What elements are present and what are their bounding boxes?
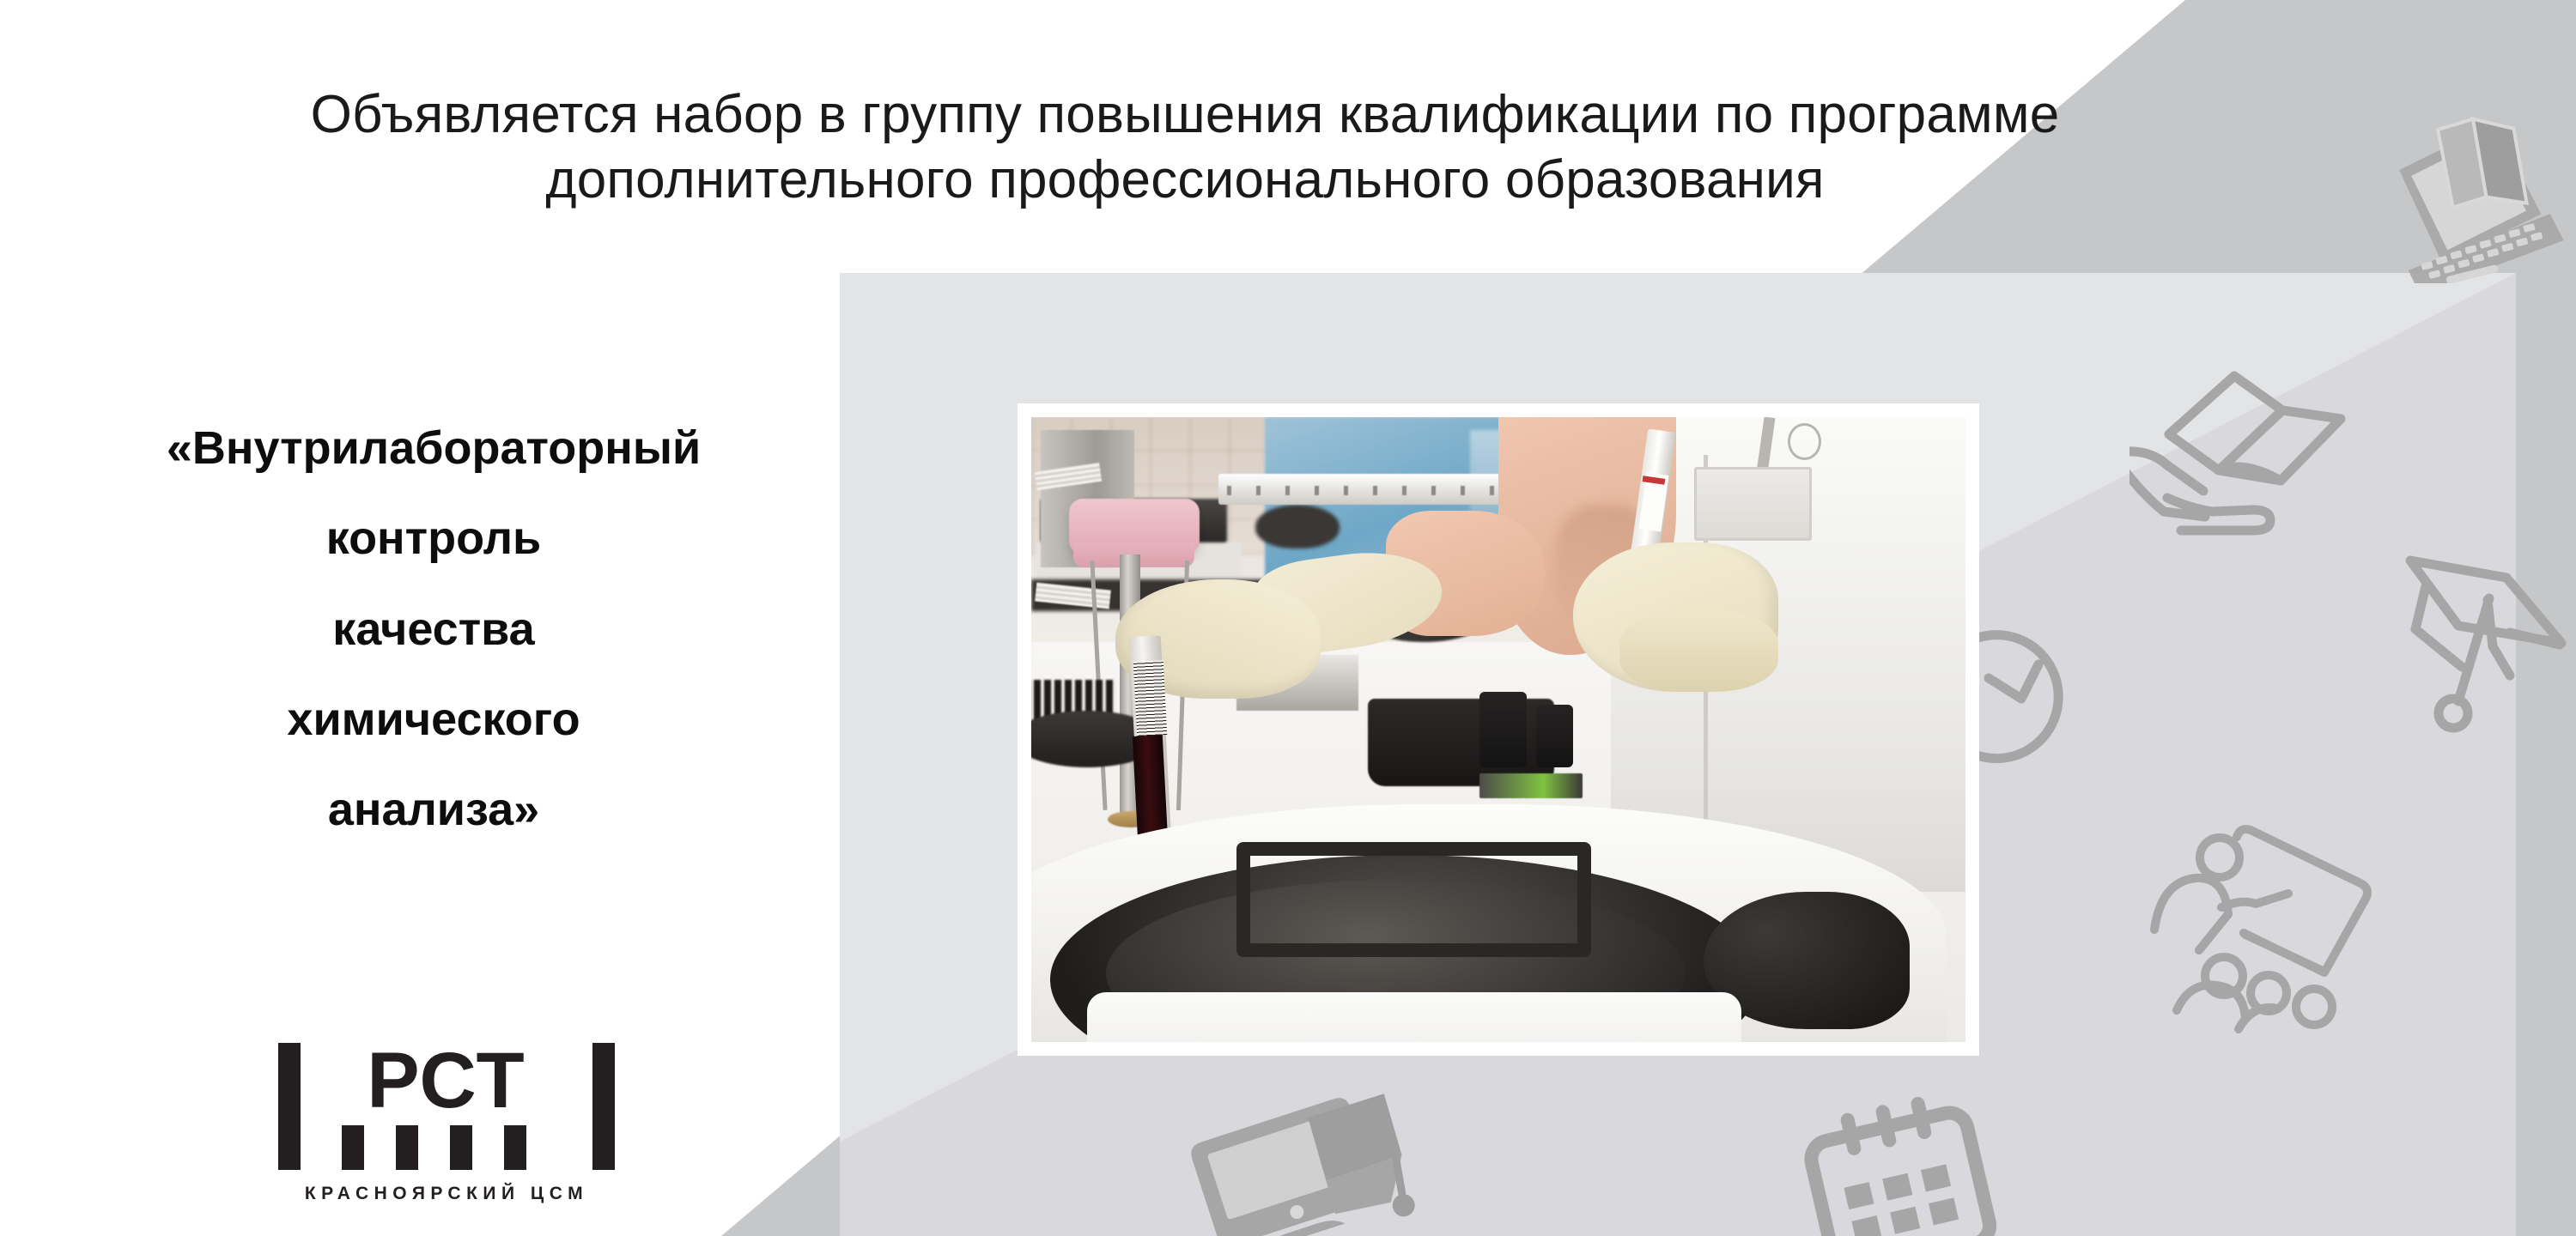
logo-right-bar [592, 1043, 615, 1170]
monitor-cap-icon [1185, 1086, 1434, 1236]
presentation-slide: Объявляется набор в группу повышения ква… [0, 0, 2576, 1236]
laboratory-photo-frame [1018, 403, 1979, 1056]
calendar-icon [1790, 1094, 2022, 1236]
logo-mark: РСТ [275, 1043, 618, 1172]
title-line-2: дополнительного профессионального образо… [0, 148, 2370, 213]
logo-left-bar [278, 1043, 301, 1170]
logo-letters: РСТ [326, 1039, 567, 1122]
slide-title: Объявляется набор в группу повышения ква… [0, 82, 2370, 212]
course-name-line-4: химического [52, 675, 816, 765]
course-name-line-5: анализа» [52, 765, 816, 855]
laptop-book-icon [2366, 103, 2567, 283]
logo-tick-3 [450, 1125, 472, 1170]
course-name: «Внутрилабораторный контроль качества хи… [52, 403, 816, 855]
logo-subtitle: КРАСНОЯРСКИЙ ЦСМ [275, 1184, 618, 1204]
rst-logo: РСТ КРАСНОЯРСКИЙ ЦСМ [275, 1043, 618, 1204]
course-name-line-1: «Внутрилабораторный [52, 403, 816, 494]
lecture-board-icon [2142, 820, 2409, 1043]
logo-tick-4 [504, 1125, 526, 1170]
title-line-1: Объявляется набор в группу повышения ква… [0, 82, 2370, 148]
course-name-line-2: контроль [52, 494, 816, 584]
logo-tick-2 [396, 1125, 418, 1170]
hand-book-icon [2129, 360, 2387, 558]
logo-tick-1 [342, 1125, 364, 1170]
graduation-cap-icon [2391, 536, 2576, 742]
laboratory-photo [1031, 417, 1965, 1042]
course-name-line-3: качества [52, 585, 816, 675]
